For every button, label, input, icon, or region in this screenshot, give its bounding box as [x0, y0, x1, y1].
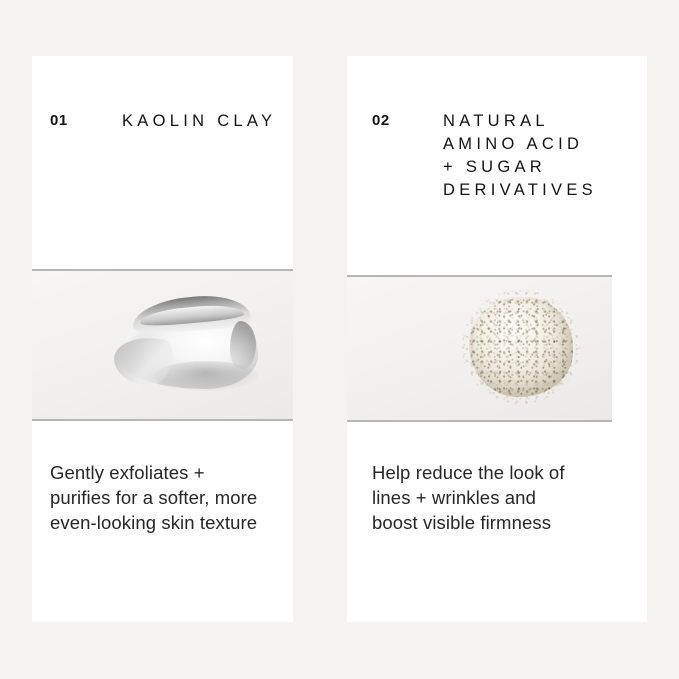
clay-smear-illustration — [114, 293, 262, 395]
amino-acid-powder-swatch — [347, 275, 612, 422]
card-heading-01: 01 KAOLIN CLAY — [32, 110, 293, 133]
ingredient-number-02: 02 — [372, 110, 443, 128]
card-heading-02: 02 NATURAL AMINO ACID + SUGAR DERIVATIVE… — [347, 110, 647, 202]
ingredient-title-01: KAOLIN CLAY — [122, 110, 276, 133]
powder-scatter-texture — [462, 290, 580, 404]
swatch-backdrop — [32, 271, 293, 419]
ingredient-number-01: 01 — [50, 110, 122, 128]
swatch-backdrop — [347, 277, 612, 420]
ingredient-card-01: 01 KAOLIN CLAY Gently exfoliates + purif… — [32, 56, 293, 622]
ingredient-benefit-02: Help reduce the look of lines + wrinkles… — [372, 460, 565, 535]
clay-drop-shadow — [154, 361, 258, 391]
ingredient-title-02: NATURAL AMINO ACID + SUGAR DERIVATIVES — [443, 110, 597, 202]
ingredient-card-02: 02 NATURAL AMINO ACID + SUGAR DERIVATIVE… — [347, 56, 647, 622]
clay-edge-shadow — [230, 321, 256, 369]
ingredient-benefit-01: Gently exfoliates + purifies for a softe… — [50, 460, 257, 535]
kaolin-clay-swatch — [32, 269, 293, 421]
powder-pile-illustration — [469, 297, 573, 397]
ingredient-benefits-graphic: 01 KAOLIN CLAY Gently exfoliates + purif… — [0, 0, 679, 679]
